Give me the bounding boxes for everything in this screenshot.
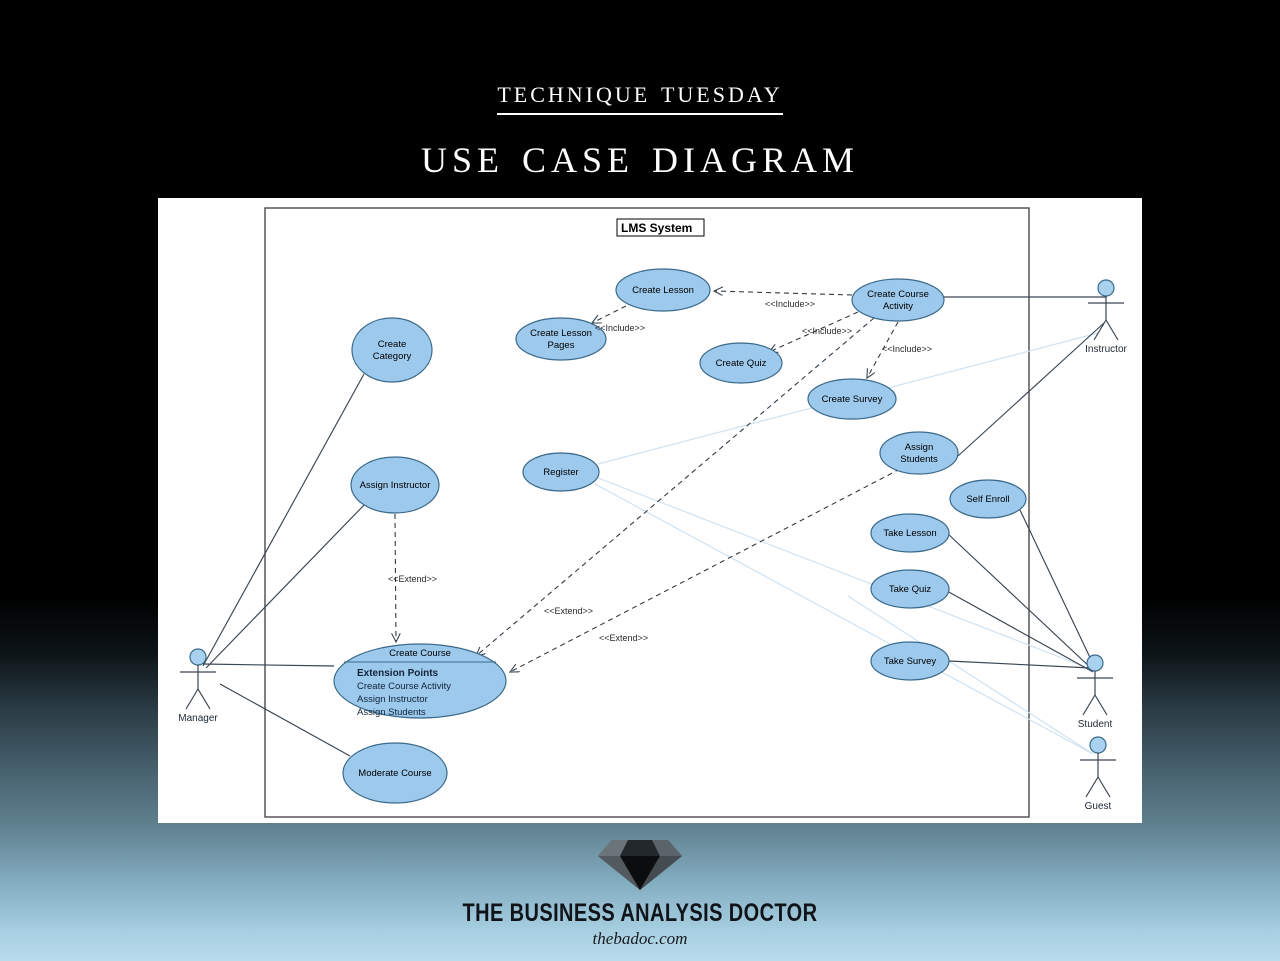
use-case[interactable]: Take Lesson	[871, 514, 949, 552]
use-case[interactable]: Create Lesson Pages	[516, 318, 606, 360]
svg-text:Create Lesson: Create Lesson	[530, 328, 592, 339]
use-case-label: Create Survey	[822, 394, 883, 405]
relationship-label: <<Include>>	[595, 323, 645, 333]
use-case-create-course[interactable]: Create Course Extension Points Create Co…	[334, 644, 506, 718]
relationship-labels: <<Include>> <<Include>> <<Include>> <<In…	[388, 299, 932, 643]
actor-instructor[interactable]: Instructor	[1085, 280, 1127, 355]
svg-text:Students: Students	[900, 454, 938, 465]
relationship-label: <<Extend>>	[388, 574, 437, 584]
use-case[interactable]: Self Enroll	[950, 480, 1026, 518]
svg-text:Pages: Pages	[548, 340, 575, 351]
use-case-label: Take Quiz	[889, 584, 931, 595]
extension-point: Create Course Activity	[357, 681, 451, 692]
svg-text:Create: Create	[378, 339, 407, 350]
actor-guest[interactable]: Guest	[1080, 737, 1116, 812]
extend-relations	[395, 318, 900, 672]
use-case[interactable]: Take Quiz	[871, 570, 949, 608]
system-label: LMS System	[621, 221, 692, 235]
slide-header: Technique Tuesday Use Case Diagram	[0, 0, 1280, 183]
use-case-label: Create Lesson	[632, 285, 694, 296]
use-case[interactable]: Take Survey	[871, 642, 949, 680]
gem-icon	[592, 836, 688, 892]
use-case-label: Take Survey	[884, 656, 937, 667]
use-case[interactable]: Create Survey	[808, 379, 896, 419]
use-case[interactable]: Create Course Activity	[852, 279, 944, 321]
actor-label: Manager	[178, 713, 218, 724]
brand-url: thebadoc.com	[0, 929, 1280, 949]
use-case-label: Register	[543, 467, 578, 478]
relationship-label: <<Extend>>	[544, 606, 593, 616]
use-case[interactable]: Register	[523, 453, 599, 491]
extension-point: Assign Instructor	[357, 694, 428, 705]
brand-name: THE BUSINESS ANALYSIS DOCTOR	[128, 899, 1152, 928]
diagram-panel: LMS System	[158, 198, 1142, 823]
use-case[interactable]: Moderate Course	[343, 743, 447, 803]
relationship-label: <<Include>>	[765, 299, 815, 309]
actor-manager[interactable]: Manager	[178, 649, 218, 724]
extension-points-title: Extension Points	[357, 668, 439, 679]
svg-text:Assign: Assign	[905, 442, 934, 453]
actors: Instructor Manager	[178, 280, 1127, 812]
use-case-label: Create Quiz	[716, 358, 767, 369]
use-case[interactable]: Assign Instructor	[351, 457, 439, 513]
footer-brand: THE BUSINESS ANALYSIS DOCTOR thebadoc.co…	[0, 836, 1280, 949]
create-course-label: Create Course	[389, 648, 451, 659]
use-case[interactable]: Create Lesson	[616, 269, 710, 311]
svg-text:Category: Category	[373, 351, 412, 362]
extension-point: Assign Students	[357, 707, 426, 718]
svg-text:Activity: Activity	[883, 301, 913, 312]
eyebrow-title: Technique Tuesday	[497, 76, 782, 115]
relationship-label: <<Include>>	[802, 326, 852, 336]
use-case-label: Assign Instructor	[360, 480, 431, 491]
actor-label: Student	[1078, 719, 1113, 730]
relationship-label: <<Extend>>	[599, 633, 648, 643]
use-case[interactable]: Create Category	[352, 318, 432, 382]
page-title: Use Case Diagram	[0, 129, 1280, 184]
use-case-label: Take Lesson	[883, 528, 936, 539]
actor-label: Instructor	[1085, 344, 1127, 355]
svg-text:Create Course: Create Course	[867, 289, 929, 300]
use-case[interactable]: Assign Students	[880, 432, 958, 474]
actor-label: Guest	[1085, 801, 1112, 812]
use-case[interactable]: Create Quiz	[700, 343, 782, 383]
use-case-label: Moderate Course	[358, 768, 431, 779]
relationship-label: <<Include>>	[882, 344, 932, 354]
use-case-label: Self Enroll	[966, 494, 1009, 505]
slide-root: Technique Tuesday Use Case Diagram LMS S…	[0, 0, 1280, 961]
